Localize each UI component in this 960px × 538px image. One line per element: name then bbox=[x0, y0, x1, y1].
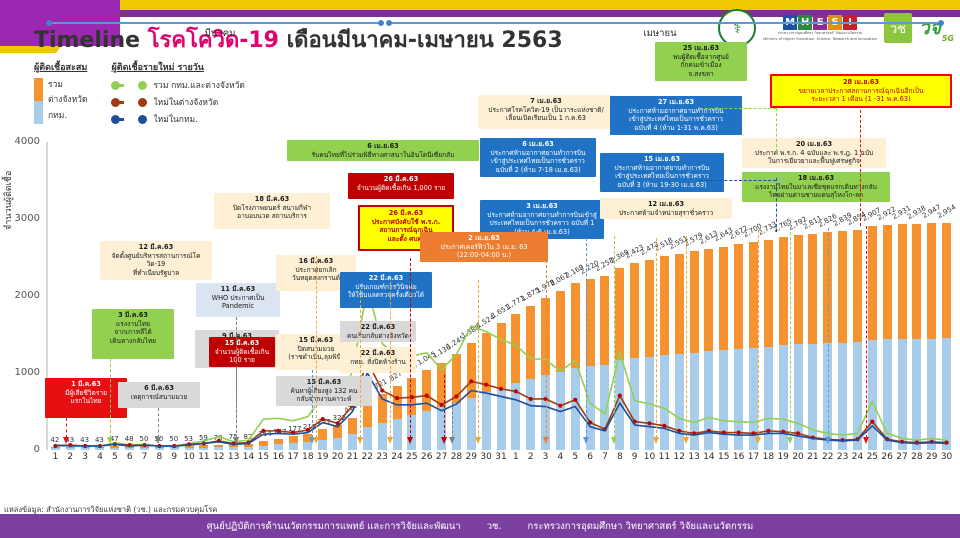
x-axis-tick-label: 14 bbox=[241, 452, 257, 462]
annotation-box-a26: 28 เม.ย.63ขยายเวลาประกาศสถานการณ์ฉุกเฉิน… bbox=[770, 74, 952, 108]
annotation-connector-line bbox=[316, 256, 317, 438]
annotation-date: 25 เม.ย.63 bbox=[658, 44, 744, 53]
x-axis-tick-label: 9 bbox=[166, 452, 182, 462]
daily-marker-point bbox=[529, 397, 533, 401]
x-axis-tick-label: 25 bbox=[404, 452, 420, 462]
x-axis-tick-label: 16 bbox=[270, 452, 286, 462]
annotation-box-a5: 11 มี.ค.63WHO ประกาศเป็นPandemic bbox=[196, 283, 280, 317]
legend-daily-label-provinces: ใหม่ในต่างจังหวัด bbox=[153, 95, 218, 109]
x-axis-tick-label: 23 bbox=[374, 452, 390, 462]
footer-org-short: วช. bbox=[487, 519, 502, 534]
wo-5g-logo-icon: วจ5G bbox=[919, 13, 954, 43]
x-axis-tick-label: 9 bbox=[627, 452, 643, 462]
daily-marker-point bbox=[261, 429, 265, 433]
x-axis-month-march: มีนาคม bbox=[170, 26, 270, 41]
x-axis-tick-label: 22 bbox=[820, 452, 836, 462]
annotation-connector-arrow bbox=[787, 437, 793, 444]
annotation-connector-line bbox=[410, 258, 411, 438]
x-axis-tick-label: 19 bbox=[775, 452, 791, 462]
y-axis-tick-label: 4000 bbox=[6, 136, 40, 147]
annotation-connector-arrow bbox=[653, 437, 659, 444]
annotation-connector-arrow bbox=[583, 437, 589, 444]
annotation-body: พบผู้ติดเชื้อจากศูนย์กักคนเข้าเมืองจ.สงข… bbox=[673, 53, 729, 78]
annotation-date: 28 เม.ย.63 bbox=[775, 78, 947, 87]
x-axis-tick-label: 24 bbox=[389, 452, 405, 462]
daily-marker-point bbox=[766, 429, 770, 433]
annotation-route-vertical bbox=[776, 178, 777, 232]
annotation-connector-arrow bbox=[155, 437, 161, 444]
footer-ministry: กระทรวงการอุดมศึกษา วิทยาศาสตร์ วิจัยและ… bbox=[528, 519, 754, 534]
annotation-body: ขยายเวลาประกาศสถานการณ์ฉุกเฉินอีกเป็นระย… bbox=[798, 87, 923, 104]
legend-daily-label-bangkok: ใหม่ในกทม. bbox=[153, 112, 197, 126]
legend-daily-item-bangkok: ใหม่ในกทม. bbox=[111, 112, 244, 126]
annotation-box-a25: 25 เม.ย.63พบผู้ติดเชื้อจากศูนย์กักคนเข้า… bbox=[655, 42, 747, 81]
x-axis-tick-label: 11 bbox=[656, 452, 672, 462]
footer-bar: ศูนย์ปฏิบัติการด้านนวัตกรรมการแพทย์ และก… bbox=[0, 514, 960, 538]
x-axis-tick-label: 19 bbox=[315, 452, 331, 462]
x-axis-tick-label: 2 bbox=[523, 452, 539, 462]
annotation-connector-line bbox=[478, 280, 479, 438]
daily-marker-point bbox=[276, 429, 280, 433]
daily-marker-point bbox=[558, 404, 562, 408]
annotation-body: ประกาศห้ามจำหน่ายสุราชั่วคราว bbox=[619, 209, 713, 217]
annotation-connector-line bbox=[390, 282, 391, 438]
daily-marker-point bbox=[662, 424, 666, 428]
daily-marker-point bbox=[499, 387, 503, 391]
legend-daily-title: ผู้ติดเชื้อรายใหม่ รายวัน bbox=[111, 60, 244, 74]
annotation-date: 6 เม.ย.63 bbox=[290, 142, 476, 151]
annotation-box-a17: 6 เม.ย.63รับคนไทยที่ไปร่วมพิธีทางศาสนาใน… bbox=[287, 140, 479, 161]
x-axis-tick-label: 10 bbox=[642, 452, 658, 462]
annotation-connector-line bbox=[110, 359, 111, 438]
annotation-date: 18 เม.ย.63 bbox=[745, 174, 887, 183]
annotation-route-vertical bbox=[776, 108, 777, 152]
annotation-box-a21: 2 เม.ย.63ประกาศเคอร์ฟิวใน 3 เม.ย. 63(22:… bbox=[420, 232, 548, 262]
daily-marker-point bbox=[647, 421, 651, 425]
daily-marker-point bbox=[737, 430, 741, 434]
title-prefix: Timeline bbox=[34, 28, 148, 53]
annotation-body: ปิดโรงภาพยนตร์ สนามกีฬาอาบอบนวด สถานบริก… bbox=[233, 204, 311, 221]
line-symbol-green-icon bbox=[111, 81, 147, 90]
month-rule-april bbox=[389, 22, 942, 24]
x-axis-tick-label: 7 bbox=[137, 452, 153, 462]
annotation-box-a2: 3 มี.ค.63แรงงานไทยจากเกาหลีได้เดินทางกลั… bbox=[92, 309, 174, 359]
legend-cumulative-swatches: รวม ต่างจังหวัด กทม. bbox=[34, 78, 87, 124]
footer-center-name: ศูนย์ปฏิบัติการด้านนวัตกรรมการแพทย์ และก… bbox=[207, 519, 461, 534]
legend-label-provinces: ต่างจังหวัด bbox=[48, 95, 87, 106]
wo-logo-text: วจ bbox=[919, 13, 941, 43]
annotation-connector-arrow bbox=[683, 437, 689, 444]
annotation-box-a22: 15 เม.ย.63ประกาศห้ามอากาศยานทำการบินเข้า… bbox=[600, 153, 724, 192]
legend-cumulative-labels: รวม ต่างจังหวัด กทม. bbox=[48, 78, 87, 124]
slide-canvas: Timeline โรคโควิด-19 เดือนมีนาคม-เมษายน … bbox=[0, 0, 960, 538]
legend-cumulative-title: ผู้ติดเชื้อสะสม bbox=[34, 60, 87, 74]
daily-marker-point bbox=[870, 420, 874, 424]
x-axis-tick-label: 12 bbox=[211, 452, 227, 462]
annotation-connector-arrow bbox=[441, 437, 447, 444]
daily-marker-point bbox=[469, 379, 473, 383]
x-axis-tick-label: 27 bbox=[434, 452, 450, 462]
annotation-route-vertical bbox=[860, 110, 861, 226]
daily-marker-point bbox=[454, 394, 458, 398]
daily-marker-point bbox=[380, 388, 384, 392]
annotation-box-a1: 1 มี.ค.63มีผู้เสียชีวิตรายแรกในไทย bbox=[45, 378, 127, 418]
annotation-connector-line bbox=[312, 370, 313, 438]
annotation-date: 18 มี.ค.63 bbox=[217, 195, 327, 204]
annotation-body: คนเริ่มกลับต่างจังหวัด bbox=[347, 332, 409, 340]
legend-label-bangkok: กทม. bbox=[48, 111, 87, 122]
x-axis-month-april: เมษายน bbox=[610, 26, 710, 41]
nrct-logo-icon: วช bbox=[884, 13, 912, 43]
annotation-body: ประกาศห้ามอากาศยานทำการบินเข้าสู่ประเทศไ… bbox=[628, 107, 723, 132]
daily-marker-point bbox=[484, 383, 488, 387]
annotation-box-a14: 22 มี.ค.63ปรับเกณฑ์การวินิจฉัยให้ใช้บแลต… bbox=[340, 272, 432, 308]
y-axis-tick-label: 2000 bbox=[6, 290, 40, 301]
annotation-connector-arrow bbox=[357, 437, 363, 444]
x-axis-tick-label: 4 bbox=[552, 452, 568, 462]
annotation-body: เหตุการณ์สนามมวย bbox=[131, 393, 188, 401]
x-axis-tick-label: 28 bbox=[909, 452, 925, 462]
annotation-body: ค้นหาผู้เสี่ยงสูง 132 คนกลับจากงานคาวะห์ bbox=[290, 387, 357, 404]
annotation-body: ประกาศห้ามอากาศยานทำการบินเข้าสู่ประเทศไ… bbox=[614, 164, 709, 189]
x-axis-tick-label: 29 bbox=[924, 452, 940, 462]
annotation-body: จัดตั้งศูนย์บริหารสถานการณ์โควิด-19ที่ทำ… bbox=[111, 252, 200, 277]
x-axis-tick-label: 5 bbox=[107, 452, 123, 462]
annotation-date: 22 มี.ค.63 bbox=[343, 274, 429, 283]
legend-daily-label-total: รวม กทม.และต่างจังหวัด bbox=[153, 78, 244, 92]
x-axis-tick-label: 24 bbox=[849, 452, 865, 462]
annotation-connector-arrow bbox=[863, 437, 869, 444]
annotation-body: รับคนไทยที่ไปร่วมพิธีทางศาสนาในอินโดนีเซ… bbox=[312, 151, 455, 159]
daily-marker-point bbox=[514, 389, 518, 393]
annotation-connector-arrow bbox=[313, 437, 319, 444]
annotation-date: 20 เม.ย.63 bbox=[745, 140, 883, 149]
daily-marker-point bbox=[321, 417, 325, 421]
annotation-connector-line bbox=[360, 290, 361, 438]
y-axis-tick-label: 0 bbox=[6, 444, 40, 455]
annotation-connector-line bbox=[158, 408, 159, 438]
annotation-body: ประกาศเคอร์ฟิวใน 3 เม.ย. 63(22:00-04:00 … bbox=[441, 243, 528, 260]
annotation-date: 26 มี.ค.63 bbox=[351, 175, 451, 184]
annotation-connector-arrow bbox=[825, 437, 831, 444]
daily-line-total bbox=[55, 288, 946, 446]
annotation-connector-arrow bbox=[107, 437, 113, 444]
annotation-connector-line bbox=[614, 236, 615, 438]
mhesi-logo: M H E S I กระทรวงการอุดมศึกษา วิทยาศาสตร… bbox=[763, 15, 877, 41]
annotation-box-a12: 22 มี.ค.63กทม. สั่งปิดห้างร้าน bbox=[340, 347, 416, 373]
annotation-date: 15 มี.ค.63 bbox=[279, 378, 369, 387]
y-axis-tick-label: 3000 bbox=[6, 213, 40, 224]
wo-logo-5g: 5G bbox=[942, 34, 954, 43]
daily-marker-point bbox=[395, 396, 399, 400]
annotation-box-a24: 27 เม.ย.63ประกาศห้ามอากาศยานทำการบินเข้า… bbox=[610, 96, 742, 135]
x-axis-tick-label: 1 bbox=[508, 452, 524, 462]
x-axis-tick-label: 15 bbox=[716, 452, 732, 462]
annotation-box-a11: 15 มี.ค.63ค้นหาผู้เสี่ยงสูง 132 คนกลับจา… bbox=[276, 376, 372, 406]
daily-marker-point bbox=[425, 394, 429, 398]
x-axis-tick-label: 18 bbox=[760, 452, 776, 462]
annotation-body: ประกาศ พ.ร.ก. 4 ฉบับและ พ.ร.ฎ. 1 ฉบับในก… bbox=[755, 149, 873, 166]
x-axis-tick-label: 21 bbox=[805, 452, 821, 462]
annotation-box-a18: 7 เม.ย.63ประกาศโรคโควิด-19 เป็นวาระแห่งช… bbox=[478, 95, 614, 129]
x-axis-tick-label: 3 bbox=[77, 452, 93, 462]
line-symbol-blue-icon bbox=[111, 115, 147, 124]
x-axis-tick-label: 8 bbox=[151, 452, 167, 462]
annotation-connector-line bbox=[686, 236, 687, 438]
x-axis-tick-label: 21 bbox=[344, 452, 360, 462]
x-axis-tick-label: 26 bbox=[879, 452, 895, 462]
month-dot-march-end bbox=[378, 20, 384, 26]
annotation-connector-line bbox=[586, 238, 587, 438]
x-axis-tick-label: 27 bbox=[894, 452, 910, 462]
annotation-body: กทม. สั่งปิดห้างร้าน bbox=[350, 358, 406, 366]
annotation-box-a28: 18 เม.ย.63แรงงานไทยในมาเลเซียชุดแรกเดินท… bbox=[742, 172, 890, 202]
daily-marker-point bbox=[618, 394, 622, 398]
x-axis-tick-label: 20 bbox=[330, 452, 346, 462]
annotation-connector-line bbox=[828, 228, 829, 438]
annotation-route-horizontal bbox=[700, 180, 776, 181]
annotation-body: ประกาศห้ามอากาศยานทำการบินเข้าสู่ประเทศไ… bbox=[490, 149, 585, 174]
month-dot-april-end bbox=[938, 20, 944, 26]
annotation-body: มีผู้เสียชีวิตรายแรกในไทย bbox=[65, 389, 107, 406]
annotation-connector-line bbox=[444, 375, 445, 438]
annotation-body: แรงงานไทยจากเกาหลีได้เดินทางกลับไทย bbox=[110, 320, 156, 345]
annotation-date: 27 เม.ย.63 bbox=[613, 98, 739, 107]
annotation-date: 11 มี.ค.63 bbox=[199, 285, 277, 294]
annotation-connector-arrow bbox=[387, 437, 393, 444]
annotation-box-a13: 22 มี.ค.63คนเริ่มกลับต่างจังหวัด bbox=[340, 321, 416, 342]
annotation-date: 26 มี.ค.63 bbox=[363, 209, 449, 218]
annotation-box-a19: 6 เม.ย.63ประกาศห้ามอากาศยานทำการบินเข้าส… bbox=[480, 138, 596, 177]
x-axis-tick-label: 13 bbox=[686, 452, 702, 462]
annotation-date: 6 มี.ค.63 bbox=[121, 384, 197, 393]
annotation-connector-line bbox=[758, 230, 759, 438]
annotation-connector-arrow bbox=[611, 437, 617, 444]
annotation-date: 22 มี.ค.63 bbox=[343, 349, 413, 358]
x-axis-tick-label: 29 bbox=[463, 452, 479, 462]
annotation-date: 3 มี.ค.63 bbox=[95, 311, 171, 320]
annotation-connector-arrow bbox=[755, 437, 761, 444]
legend-daily: ผู้ติดเชื้อรายใหม่ รายวัน รวม กทม.และต่า… bbox=[111, 60, 244, 129]
chart-legend: ผู้ติดเชื้อสะสม รวม ต่างจังหวัด กทม. ผู้… bbox=[34, 60, 245, 129]
x-axis-tick-label: 6 bbox=[582, 452, 598, 462]
title-thai-rest: เดือนมีนาคม-เมษายน 2563 bbox=[279, 28, 563, 53]
annotation-connector-arrow bbox=[475, 437, 481, 444]
annotation-date: 12 มี.ค.63 bbox=[103, 243, 209, 252]
x-axis-tick-label: 2 bbox=[62, 452, 78, 462]
annotation-connector-arrow bbox=[449, 437, 455, 444]
annotation-box-a27: 20 เม.ย.63ประกาศ พ.ร.ก. 4 ฉบับและ พ.ร.ฎ.… bbox=[742, 138, 886, 168]
annotation-connector-line bbox=[790, 232, 791, 438]
annotation-connector-line bbox=[656, 238, 657, 438]
x-axis-tick-label: 20 bbox=[790, 452, 806, 462]
annotation-body: WHO ประกาศเป็นPandemic bbox=[212, 294, 265, 311]
x-axis-tick-label: 6 bbox=[122, 452, 138, 462]
x-axis-tick-label: 17 bbox=[745, 452, 761, 462]
x-axis-tick-label: 14 bbox=[701, 452, 717, 462]
annotation-route-horizontal bbox=[700, 108, 776, 109]
x-axis: 1234567891011121314151617181920212223242… bbox=[48, 450, 954, 451]
annotation-body: แรงงานไทยในมาเลเซียชุดแรกเดินทางกลับไทยผ… bbox=[755, 183, 877, 200]
stacked-color-swatch bbox=[34, 78, 43, 124]
annotation-box-a15: 26 มี.ค.63จำนวนผู้ติดเชื้อเกิน 1,000 ราย bbox=[348, 173, 454, 199]
annotation-connector-arrow bbox=[233, 437, 239, 444]
x-axis-tick-label: 3 bbox=[538, 452, 554, 462]
line-symbol-brown-icon bbox=[111, 98, 147, 107]
x-axis-tick-label: 5 bbox=[567, 452, 583, 462]
month-dot-march-start bbox=[46, 20, 52, 26]
annotation-body: จำนวนผู้ติดเชื้อเกิน 100 ราย bbox=[215, 348, 269, 365]
daily-marker-point bbox=[573, 398, 577, 402]
annotation-date: 7 เม.ย.63 bbox=[481, 97, 611, 106]
x-axis-tick-label: 13 bbox=[226, 452, 242, 462]
annotation-box-a10: 15 มี.ค.63จำนวนผู้ติดเชื้อเกิน 100 ราย bbox=[209, 337, 275, 367]
annotation-body: ประกาศโรคโควิด-19 เป็นวาระแห่งชาติ/เลื่อ… bbox=[488, 106, 603, 123]
annotation-date: 12 เม.ย.63 bbox=[603, 200, 729, 209]
x-axis-tick-label: 22 bbox=[359, 452, 375, 462]
x-axis-tick-label: 8 bbox=[612, 452, 628, 462]
x-axis-tick-label: 16 bbox=[731, 452, 747, 462]
annotation-connector-line bbox=[866, 226, 867, 438]
annotation-connector-line bbox=[452, 402, 453, 438]
annotation-connector-arrow bbox=[407, 437, 413, 444]
x-axis-tick-label: 4 bbox=[92, 452, 108, 462]
logo-strip: ⚕ M H E S I กระทรวงการอุดมศึกษา วิทยาศาส… bbox=[718, 6, 954, 50]
annotation-date: 6 เม.ย.63 bbox=[483, 140, 593, 149]
annotation-box-a6: 12 มี.ค.63จัดตั้งศูนย์บริหารสถานการณ์โคว… bbox=[100, 241, 212, 280]
x-axis-tick-label: 12 bbox=[671, 452, 687, 462]
x-axis-tick-label: 31 bbox=[493, 452, 509, 462]
annotation-box-a9: 18 มี.ค.63ปิดโรงภาพยนตร์ สนามกีฬาอาบอบนว… bbox=[214, 193, 330, 229]
month-dot-april-start bbox=[386, 20, 392, 26]
annotation-connector-line bbox=[236, 317, 237, 438]
x-axis-tick-label: 26 bbox=[419, 452, 435, 462]
annotation-connector-line bbox=[66, 418, 67, 438]
annotation-date: 22 มี.ค.63 bbox=[343, 323, 413, 332]
x-axis-tick-label: 1 bbox=[47, 452, 63, 462]
annotation-date: 1 มี.ค.63 bbox=[48, 380, 124, 389]
legend-daily-item-total: รวม กทม.และต่างจังหวัด bbox=[111, 78, 244, 92]
x-axis-tick-label: 30 bbox=[478, 452, 494, 462]
x-axis-tick-label: 11 bbox=[196, 452, 212, 462]
x-axis-tick-label: 30 bbox=[939, 452, 955, 462]
annotation-date: 15 เม.ย.63 bbox=[603, 155, 721, 164]
annotation-date: 2 เม.ย.63 bbox=[423, 234, 545, 243]
x-axis-tick-label: 15 bbox=[255, 452, 271, 462]
annotation-box-a3: 6 มี.ค.63เหตุการณ์สนามมวย bbox=[118, 382, 200, 408]
x-axis-tick-label: 7 bbox=[597, 452, 613, 462]
mhesi-subtitle-th: กระทรวงการอุดมศึกษา วิทยาศาสตร์ วิจัยและ… bbox=[778, 31, 863, 35]
annotation-date: 15 มี.ค.63 bbox=[212, 339, 272, 348]
x-axis-tick-label: 23 bbox=[835, 452, 851, 462]
annotation-connector-arrow bbox=[543, 437, 549, 444]
x-axis-tick-label: 18 bbox=[300, 452, 316, 462]
y-axis-tick-label: 1000 bbox=[6, 367, 40, 378]
annotation-date: 3 เม.ย.63 bbox=[483, 202, 601, 211]
annotation-connector-line bbox=[546, 250, 547, 438]
legend-cumulative: ผู้ติดเชื้อสะสม รวม ต่างจังหวัด กทม. bbox=[34, 60, 87, 129]
x-axis-tick-label: 28 bbox=[448, 452, 464, 462]
annotation-box-a23: 12 เม.ย.63ประกาศห้ามจำหน่ายสุราชั่วคราว bbox=[600, 198, 732, 219]
mhesi-subtitle-en: Ministry of Higher Education, Science, R… bbox=[763, 37, 877, 41]
page-title: Timeline โรคโควิด-19 เดือนมีนาคม-เมษายน … bbox=[34, 22, 563, 57]
annotation-connector-arrow bbox=[63, 437, 69, 444]
month-rule-march bbox=[52, 22, 382, 24]
x-axis-tick-label: 10 bbox=[181, 452, 197, 462]
legend-label-total: รวม bbox=[48, 80, 87, 91]
x-axis-tick-label: 17 bbox=[285, 452, 301, 462]
legend-daily-item-provinces: ใหม่ในต่างจังหวัด bbox=[111, 95, 244, 109]
annotation-body: จำนวนผู้ติดเชื้อเกิน 1,000 ราย bbox=[357, 184, 445, 192]
x-axis-tick-label: 25 bbox=[864, 452, 880, 462]
